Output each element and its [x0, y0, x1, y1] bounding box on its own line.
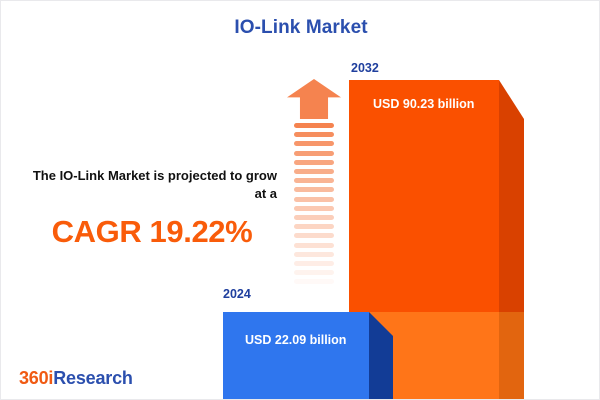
bar-2024-front-face — [223, 312, 369, 400]
arrow-segment — [294, 215, 334, 220]
growth-arrow-icon — [287, 79, 341, 294]
arrow-segment — [294, 178, 334, 183]
year-label-2024: 2024 — [223, 287, 251, 301]
page-title: IO-Link Market — [1, 17, 600, 39]
cagr-lead-text: The IO-Link Market is projected to grow … — [27, 167, 277, 204]
year-label-2032: 2032 — [351, 61, 379, 75]
arrow-segment — [294, 206, 334, 211]
arrow-segment — [294, 279, 334, 284]
arrow-segment — [294, 160, 334, 165]
cagr-callout: The IO-Link Market is projected to grow … — [27, 167, 277, 250]
bar-2024-side-face — [369, 312, 393, 400]
infographic-canvas: IO-Link Market 2032 USD 90.23 billion 20… — [0, 0, 600, 400]
arrow-segment — [294, 141, 334, 146]
arrow-segment — [294, 224, 334, 229]
arrow-segment — [294, 252, 334, 257]
arrow-segment — [294, 243, 334, 248]
brand-logo: 360iResearch — [19, 368, 133, 389]
cagr-value-text: CAGR 19.22% — [27, 214, 277, 250]
bar-2024: USD 22.09 billion — [223, 312, 393, 400]
arrow-segment — [294, 151, 334, 156]
arrow-segment — [294, 123, 334, 128]
arrow-segment — [294, 197, 334, 202]
bar-2032-value-label: USD 90.23 billion — [373, 97, 474, 111]
brand-logo-secondary: Research — [53, 368, 132, 388]
arrow-head-icon — [287, 79, 341, 119]
bar-2032-overlap-tint-side — [499, 312, 524, 400]
arrow-segment — [294, 289, 334, 294]
arrow-segment — [294, 233, 334, 238]
arrow-segment — [294, 169, 334, 174]
arrow-segment — [294, 132, 334, 137]
arrow-segment — [294, 261, 334, 266]
arrow-segment — [294, 187, 334, 192]
arrow-segment — [294, 270, 334, 275]
bar-2024-value-label: USD 22.09 billion — [245, 333, 346, 347]
brand-logo-primary: 360i — [19, 368, 53, 388]
